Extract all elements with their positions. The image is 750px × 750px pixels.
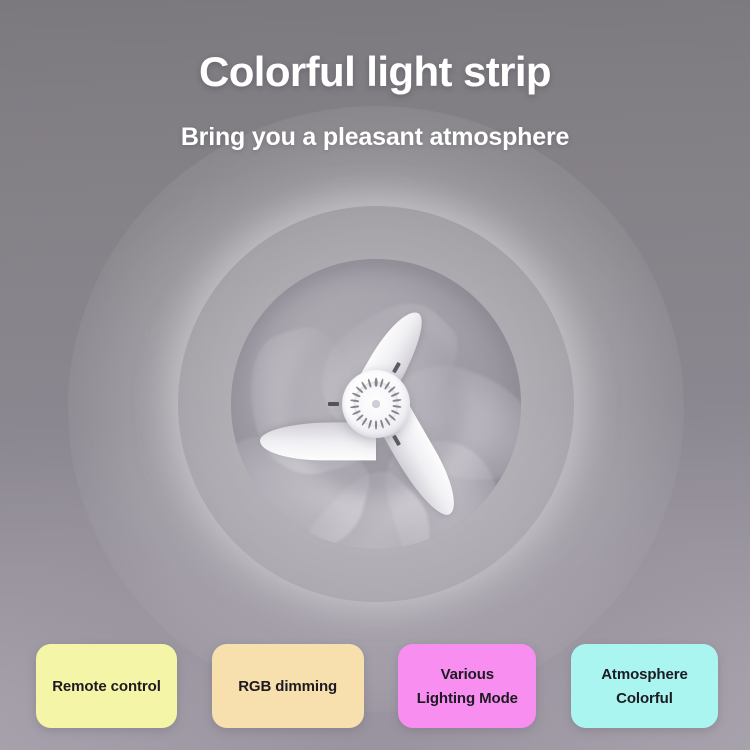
- hub-core: [372, 400, 379, 407]
- vent-slot: [375, 378, 377, 387]
- vent-slot: [391, 410, 400, 416]
- vent-slot: [384, 418, 391, 427]
- product-poster: Colorful light strip Bring you a pleasan…: [0, 0, 750, 750]
- vent-slot: [368, 420, 373, 429]
- vent-slot: [350, 399, 359, 403]
- vent-slot: [375, 421, 377, 430]
- feature-badge-various-lighting-mode[interactable]: VariousLighting Mode: [398, 644, 536, 728]
- badge-label: Various: [441, 667, 495, 682]
- badge-label: Lighting Mode: [417, 691, 518, 706]
- vent-slot: [361, 381, 368, 390]
- arm-marking: [328, 402, 339, 406]
- vent-slot: [391, 392, 400, 398]
- feature-badge-remote-control[interactable]: Remote control: [36, 644, 177, 728]
- vent-slot: [361, 418, 368, 427]
- feature-badge-rgb-dimming[interactable]: RGB dimming: [212, 644, 364, 728]
- feature-badge-row: Remote controlRGB dimmingVariousLighting…: [36, 644, 718, 730]
- badge-label: Atmosphere: [601, 667, 688, 682]
- badge-label: Colorful: [616, 691, 673, 706]
- vent-slot: [393, 405, 402, 409]
- vent-slot: [352, 392, 361, 398]
- fan-cavity: [231, 259, 520, 548]
- badge-label: Remote control: [52, 679, 161, 694]
- vent-slot: [350, 405, 359, 409]
- vent-slot: [388, 414, 396, 422]
- fan-hub: [342, 370, 410, 438]
- vent-slot: [380, 420, 385, 429]
- vent-slot: [368, 379, 373, 388]
- product-image: [178, 206, 574, 602]
- page-subtitle: Bring you a pleasant atmosphere: [0, 123, 750, 152]
- badge-label: RGB dimming: [238, 679, 337, 694]
- vent-slot: [356, 386, 364, 394]
- feature-badge-atmosphere-colorful[interactable]: AtmosphereColorful: [571, 644, 718, 728]
- vent-slot: [393, 399, 402, 403]
- hub-vent-grille: [354, 382, 399, 427]
- page-title: Colorful light strip: [0, 48, 750, 96]
